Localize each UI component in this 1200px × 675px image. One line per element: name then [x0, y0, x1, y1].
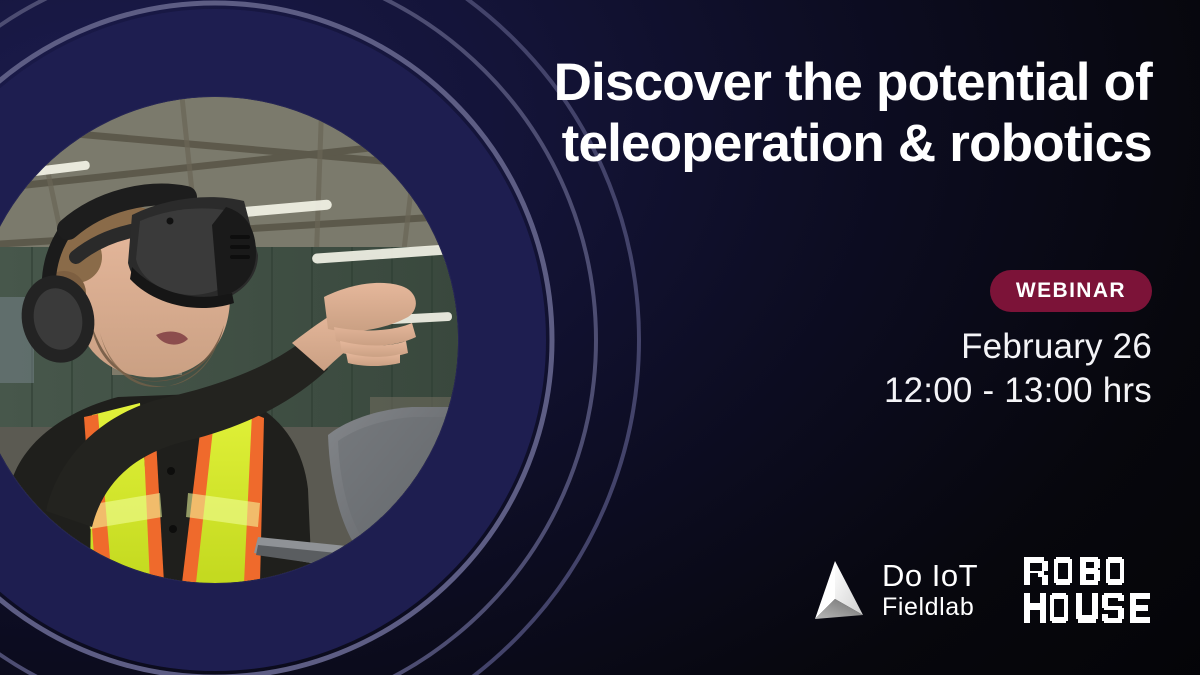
- robohouse-wordmark: [1024, 557, 1152, 623]
- headline-line-1: Discover the potential of: [452, 52, 1152, 113]
- logo-row: Do IoT Fieldlab: [813, 557, 1152, 623]
- do-iot-line-1: Do IoT: [882, 560, 978, 591]
- webinar-promo-banner: Discover the potential of teleoperation …: [0, 0, 1200, 675]
- delta-arrow-icon: [813, 559, 869, 621]
- do-iot-line-2: Fieldlab: [882, 595, 974, 620]
- robohouse-logo: [1024, 557, 1152, 623]
- photo-content: [0, 97, 458, 583]
- badge-row: WEBINAR: [990, 270, 1152, 312]
- event-time: 12:00 - 13:00 hrs: [452, 369, 1152, 413]
- do-iot-fieldlab-logo: Do IoT Fieldlab: [813, 559, 978, 621]
- holding-hand: [372, 510, 442, 573]
- event-datetime: February 26 12:00 - 13:00 hrs: [452, 325, 1152, 414]
- page-title: Discover the potential of teleoperation …: [452, 52, 1152, 175]
- headline-line-2: teleoperation & robotics: [452, 113, 1152, 174]
- do-iot-wordmark: Do IoT Fieldlab: [882, 560, 978, 620]
- event-date: February 26: [452, 325, 1152, 369]
- status-badge: WEBINAR: [990, 270, 1152, 312]
- hero-photo-circle: [0, 97, 458, 583]
